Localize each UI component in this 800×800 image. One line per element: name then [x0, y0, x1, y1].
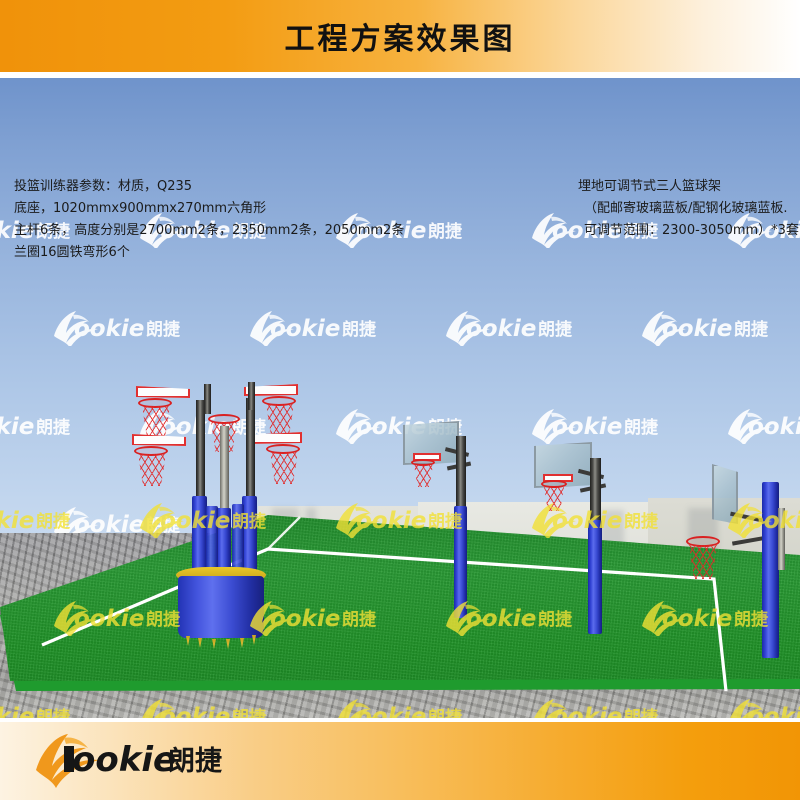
trainer-hex-base	[178, 576, 264, 638]
page-title: 工程方案效果图	[0, 0, 800, 72]
court-boundary-lines	[0, 493, 800, 713]
header-bar: 工程方案效果图	[0, 0, 800, 72]
trainer-sleeve-inner-a	[206, 506, 218, 576]
hoop1-rim	[411, 459, 435, 466]
rookie-logo-svg: ookie 朗捷	[30, 726, 250, 790]
hoop1-upper-pole	[456, 436, 466, 508]
spec-right-line-3: 可调节范围：2300-3050mm）*3套	[578, 220, 799, 242]
trainer-mast-left-upper	[196, 400, 205, 510]
trainer-mast-center-upper	[220, 426, 229, 516]
trainer-mast-tall-left	[204, 384, 211, 414]
render-scene: ookie朗捷ookie朗捷ookie朗捷ookie朗捷ookie朗捷ookie…	[0, 78, 800, 718]
spec-left-line-3: 主杆6条，高度分别是2700mm2条，2350mm2条，2050mm2条	[14, 220, 404, 242]
hoop2-upper-pole	[590, 458, 601, 522]
hoop1-lower-pole	[454, 506, 467, 618]
logo-cn-text: 朗捷	[168, 746, 223, 777]
spec-left-line-1: 投篮训练器参数：材质，Q235	[14, 176, 404, 198]
trainer-mast-right-upper	[246, 398, 255, 508]
trainer-mast-tall-right	[248, 382, 255, 410]
hoop3-main-pole	[762, 482, 779, 658]
court-area	[0, 493, 800, 713]
hoop3-adjust-rod	[778, 508, 785, 570]
spec-text-left: 投篮训练器参数：材质，Q235底座，1020mmx900mmx270mm六角形主…	[14, 176, 404, 264]
spec-right-line-1: 埋地可调节式三人篮球架	[578, 176, 799, 198]
trainer-sleeve-inner-b	[232, 504, 244, 576]
logo-latin-text: ookie	[72, 740, 176, 780]
spec-right-line-2: （配邮寄玻璃蓝板/配钢化玻璃蓝板.	[578, 198, 799, 220]
brand-logo: ookie 朗捷	[30, 726, 250, 790]
hoop2-lower-pole	[588, 520, 602, 634]
spec-text-right: 埋地可调节式三人篮球架（配邮寄玻璃蓝板/配钢化玻璃蓝板.可调节范围：2300-3…	[578, 176, 799, 242]
spec-left-line-4: 兰圈16圆铁弯形6个	[14, 242, 404, 264]
page-root: 工程方案效果图 ookie朗捷ookie朗捷ookie朗捷ookie朗捷ooki…	[0, 0, 800, 800]
hoop2-rim	[541, 480, 567, 488]
spec-left-line-2: 底座，1020mmx900mmx270mm六角形	[14, 198, 404, 220]
